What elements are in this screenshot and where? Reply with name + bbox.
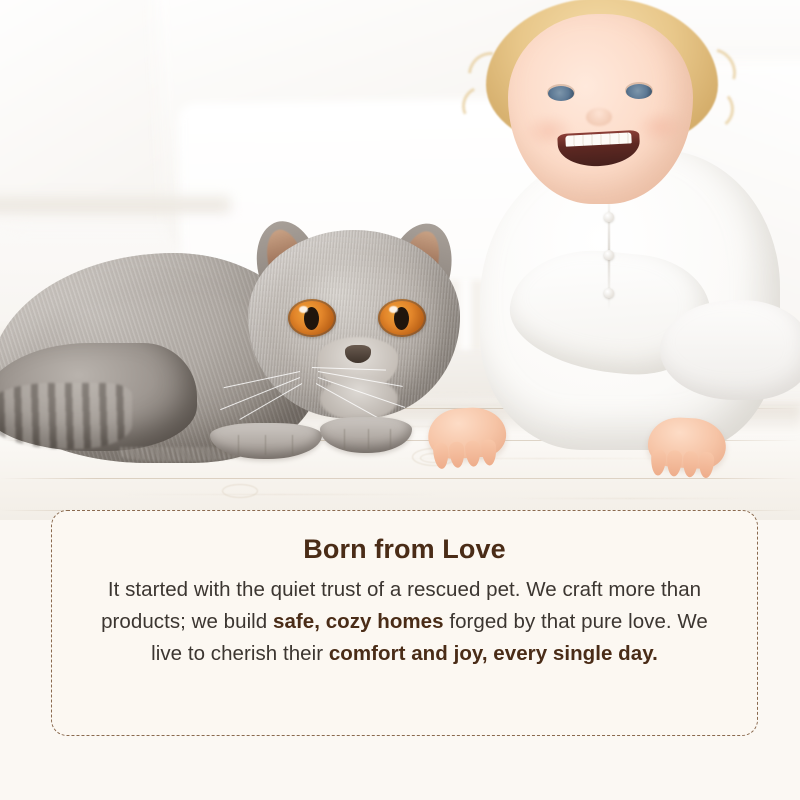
card-body-emphasis: comfort and joy, every single day. xyxy=(329,642,658,665)
toddler-eye-left xyxy=(548,86,574,101)
toddler xyxy=(420,0,800,500)
cat xyxy=(0,225,470,490)
story-card: Born from Love It started with the quiet… xyxy=(51,510,758,736)
card-body: It started with the quiet trust of a res… xyxy=(86,574,723,670)
poster: Born from Love It started with the quiet… xyxy=(0,0,800,800)
toddler-nose xyxy=(586,108,612,126)
cat-tail-stripes xyxy=(0,383,132,449)
toddler-eye-right xyxy=(626,84,652,99)
hero-photo xyxy=(0,0,800,520)
card-title: Born from Love xyxy=(86,533,723,565)
toddler-hand-left xyxy=(426,405,507,460)
cat-paw-right xyxy=(320,417,412,453)
cat-eye-right xyxy=(378,299,426,337)
cat-eye-left xyxy=(288,299,336,337)
onesie-button xyxy=(604,212,614,222)
toddler-arm-right xyxy=(660,300,800,400)
card-body-emphasis: safe, cozy homes xyxy=(273,610,444,633)
bed-edge xyxy=(0,196,230,212)
onesie-button xyxy=(604,250,614,260)
onesie-button xyxy=(604,288,614,298)
